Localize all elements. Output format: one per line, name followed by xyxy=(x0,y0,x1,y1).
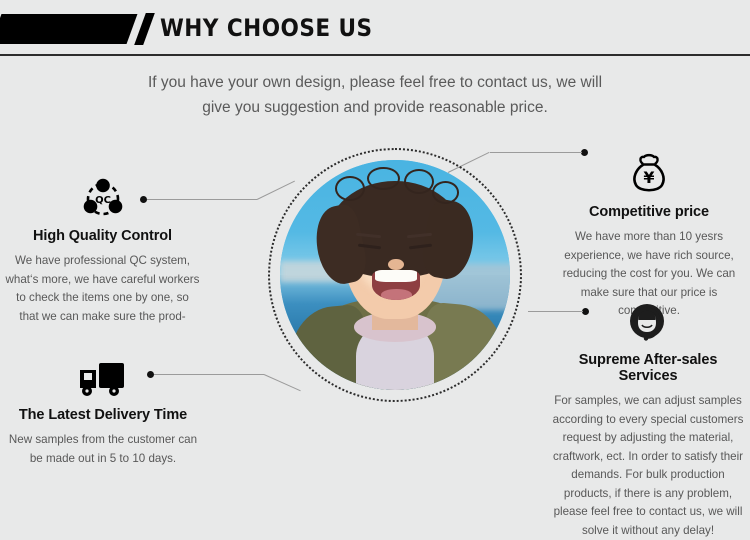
feature-title: Competitive price xyxy=(552,204,746,220)
feature-title: High Quality Control xyxy=(5,228,200,244)
photo-teeth xyxy=(375,270,418,282)
page-subtitle: If you have your own design, please feel… xyxy=(75,70,675,120)
qc-badge-icon: QC xyxy=(5,176,200,222)
delivery-truck-icon xyxy=(8,355,198,401)
feature-body: For samples, we can adjust samples accor… xyxy=(548,392,748,540)
headset-support-icon xyxy=(548,300,748,346)
photo-tongue xyxy=(381,289,412,300)
money-bag-yen-icon: ¥ xyxy=(552,152,746,198)
feature-competitive-price: ¥ Competitive price We have more than 10… xyxy=(552,152,746,321)
header-divider xyxy=(0,54,750,56)
feature-title: The Latest Delivery Time xyxy=(8,407,198,423)
feature-title: Supreme After-sales Services xyxy=(548,352,748,384)
subtitle-line-2: give you suggestion and provide reasonab… xyxy=(75,95,675,120)
header-banner-shape xyxy=(0,14,137,44)
center-hero-photo xyxy=(280,160,510,390)
photo-hair-curl xyxy=(367,167,399,190)
page-title: WHY CHOOSE US xyxy=(160,13,372,43)
feature-latest-delivery-time: The Latest Delivery Time New samples fro… xyxy=(8,355,198,468)
feature-body: We have professional QC system, what‘s m… xyxy=(5,252,200,326)
photo-hair-curl xyxy=(432,181,460,204)
feature-supreme-after-sales-services: Supreme After-sales Services For samples… xyxy=(548,300,748,540)
svg-text:QC: QC xyxy=(95,195,111,206)
subtitle-line-1: If you have your own design, please feel… xyxy=(75,70,675,95)
feature-body: New samples from the customer can be mad… xyxy=(8,431,198,468)
svg-text:¥: ¥ xyxy=(643,168,654,187)
page-header: WHY CHOOSE US xyxy=(0,0,750,55)
header-slash-shape xyxy=(134,13,155,45)
feature-high-quality-control: QC High Quality Control We have professi… xyxy=(5,176,200,326)
